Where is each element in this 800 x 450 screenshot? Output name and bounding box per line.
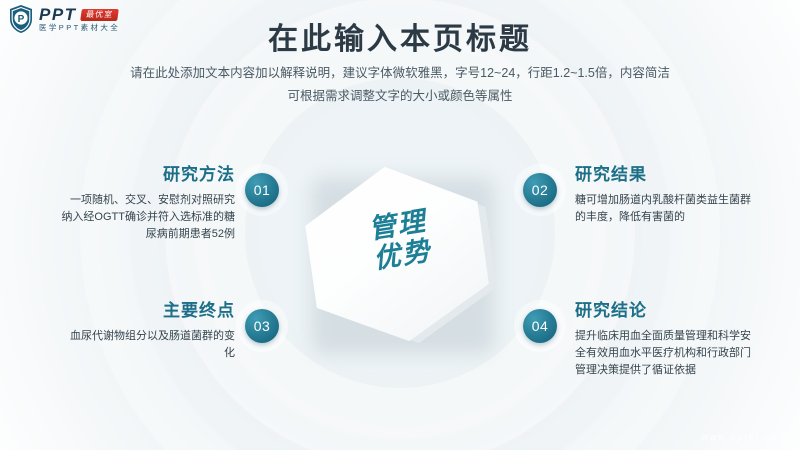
content-body-01: 一项随机、交叉、安慰剂对照研究纳入经OGTT确诊并符入选标准的糖尿病前期患者52… [60, 192, 235, 243]
content-body-02: 糖可增加肠道内乳酸杆菌类益生菌群的丰度，降低有害菌的 [575, 192, 760, 226]
content-heading-02: 研究结果 [575, 160, 760, 185]
content-block-03[interactable]: 主要终点 血尿代谢物组分以及肠道菌群的变化 [60, 296, 235, 362]
svg-text:P: P [18, 14, 25, 25]
logo-brand-text: PPT [39, 6, 77, 23]
page-subtitle-line-2: 可根据需求调整文字的大小或颜色等属性 [100, 85, 700, 108]
number-badge-01[interactable]: 01 [245, 173, 279, 207]
number-badge-02[interactable]: 02 [523, 173, 557, 207]
logo-text-group: PPT 最优室 医学PPT素材大全 [39, 6, 120, 32]
logo-primary-row: PPT 最优室 [39, 6, 120, 23]
content-body-04: 提升临床用血全面质量管理和科学安全有效用血水平医疗机构和行政部门管理决策提供了循… [575, 328, 760, 379]
content-body-03: 血尿代谢物组分以及肠道菌群的变化 [60, 328, 235, 362]
brand-logo[interactable]: P PPT 最优室 医学PPT素材大全 [8, 4, 120, 34]
slide-canvas: P PPT 最优室 医学PPT素材大全 在此输入本页标题 请在此处添加文本内容加… [0, 0, 800, 450]
content-block-04[interactable]: 研究结论 提升临床用血全面质量管理和科学安全有效用血水平医疗机构和行政部门管理决… [575, 296, 760, 379]
page-subtitle-line-1: 请在此处添加文本内容加以解释说明，建议字体微软雅黑，字号12~24，行距1.2~… [100, 62, 700, 85]
content-heading-04: 研究结论 [575, 296, 760, 321]
page-subtitle: 请在此处添加文本内容加以解释说明，建议字体微软雅黑，字号12~24，行距1.2~… [100, 62, 700, 108]
content-block-01[interactable]: 研究方法 一项随机、交叉、安慰剂对照研究纳入经OGTT确诊并符入选标准的糖尿病前… [60, 160, 235, 243]
logo-badge: 最优室 [80, 9, 119, 21]
number-badge-04[interactable]: 04 [523, 309, 557, 343]
number-badge-03[interactable]: 03 [245, 309, 279, 343]
footer-watermark: www.ppter.com [701, 432, 788, 442]
shield-icon: P [8, 4, 34, 34]
logo-subtitle: 医学PPT素材大全 [39, 24, 120, 32]
content-heading-01: 研究方法 [60, 160, 235, 185]
content-block-02[interactable]: 研究结果 糖可增加肠道内乳酸杆菌类益生菌群的丰度，降低有害菌的 [575, 160, 760, 226]
content-heading-03: 主要终点 [60, 296, 235, 321]
center-hexagon-graphic: 管理 优势 [296, 158, 504, 358]
